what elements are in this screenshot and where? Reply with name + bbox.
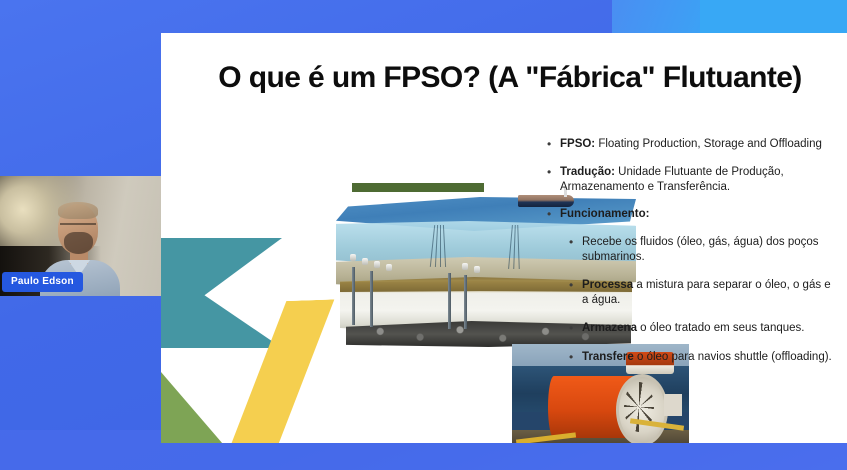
sub-bullet-rest: o óleo para navios shuttle (offloading). (634, 351, 832, 363)
riser-line (440, 225, 441, 267)
sub-bullet-rest: o óleo tratado em seus tanques. (637, 322, 805, 334)
backdrop-accent-top-right-solid (700, 0, 847, 33)
bullet-marker-icon: • (569, 278, 582, 307)
well-casing-line (352, 267, 355, 325)
slide-title: O que é um FPSO? (A "Fábrica" Flutuante) (187, 61, 833, 95)
slide-bullet-list: • FPSO: Floating Production, Storage and… (547, 137, 833, 379)
bullet-lead: Tradução: (560, 166, 615, 178)
bullet-text: Funcionamento: (560, 207, 649, 222)
sub-bullet-lead: Transfere (582, 351, 634, 363)
subsea-tree-icon (474, 266, 480, 273)
participant-beard (64, 232, 93, 254)
sub-bullet-text: Transfere o óleo para navios shuttle (of… (582, 350, 832, 365)
sub-bullet-item-armazena: • Armazena o óleo tratado em seus tanque… (569, 321, 833, 336)
sub-bullet-item-transfere: • Transfere o óleo para navios shuttle (… (569, 350, 833, 365)
sub-bullet-item-recebe: • Recebe os fluidos (óleo, gás, água) do… (569, 235, 833, 264)
sub-bullet-text: Processa a mistura para separar o óleo, … (582, 278, 833, 307)
bullet-marker-icon: • (547, 137, 560, 152)
bullet-marker-icon: • (569, 321, 582, 336)
photo-deck-equipment (664, 394, 682, 416)
bullet-lead: Funcionamento: (560, 208, 649, 220)
participant-name-badge: Paulo Edson (2, 272, 83, 292)
well-casing-line (464, 275, 467, 329)
teal-chevron-shape (161, 238, 282, 348)
participant-video-tile[interactable]: Paulo Edson (0, 176, 163, 296)
bullet-marker-icon: • (547, 207, 560, 222)
sub-bullet-lead: Armazena (582, 322, 637, 334)
meeting-screen: Paulo Edson O que é um FPSO? (A "Fábrica… (0, 0, 847, 470)
subsea-tree-icon (362, 258, 368, 265)
subsea-tree-icon (374, 261, 380, 268)
subsea-tree-icon (462, 263, 468, 270)
bullet-marker-icon: • (547, 165, 560, 194)
bullet-marker-icon: • (569, 235, 582, 264)
subsea-tree-icon (350, 254, 356, 261)
bullet-rest: Floating Production, Storage and Offload… (595, 138, 822, 150)
slide-sub-bullet-list: • Recebe os fluidos (óleo, gás, água) do… (547, 235, 833, 365)
sub-bullet-text: Armazena o óleo tratado em seus tanques. (582, 321, 804, 336)
bullet-item-funcionamento: • Funcionamento: (547, 207, 833, 222)
sub-bullet-lead: Processa (582, 279, 633, 291)
bullet-lead: FPSO: (560, 138, 595, 150)
diagram-green-bar (352, 183, 484, 192)
participant-hair (58, 202, 98, 219)
sub-bullet-item-processa: • Processa a mistura para separar o óleo… (569, 278, 833, 307)
sub-bullet-text: Recebe os fluidos (óleo, gás, água) dos … (582, 235, 833, 264)
bullet-text: Tradução: Unidade Flutuante de Produção,… (560, 165, 833, 194)
bullet-marker-icon: • (569, 350, 582, 365)
well-casing-line (370, 271, 373, 327)
shared-slide[interactable]: O que é um FPSO? (A "Fábrica" Flutuante) (161, 33, 847, 443)
bullet-item-traducao: • Tradução: Unidade Flutuante de Produçã… (547, 165, 833, 194)
subsea-tree-icon (386, 264, 392, 271)
bullet-text: FPSO: Floating Production, Storage and O… (560, 137, 822, 152)
well-casing-line (448, 273, 451, 329)
sub-bullet-rest: Recebe os fluidos (óleo, gás, água) dos … (582, 236, 819, 263)
bullet-item-fpso: • FPSO: Floating Production, Storage and… (547, 137, 833, 152)
